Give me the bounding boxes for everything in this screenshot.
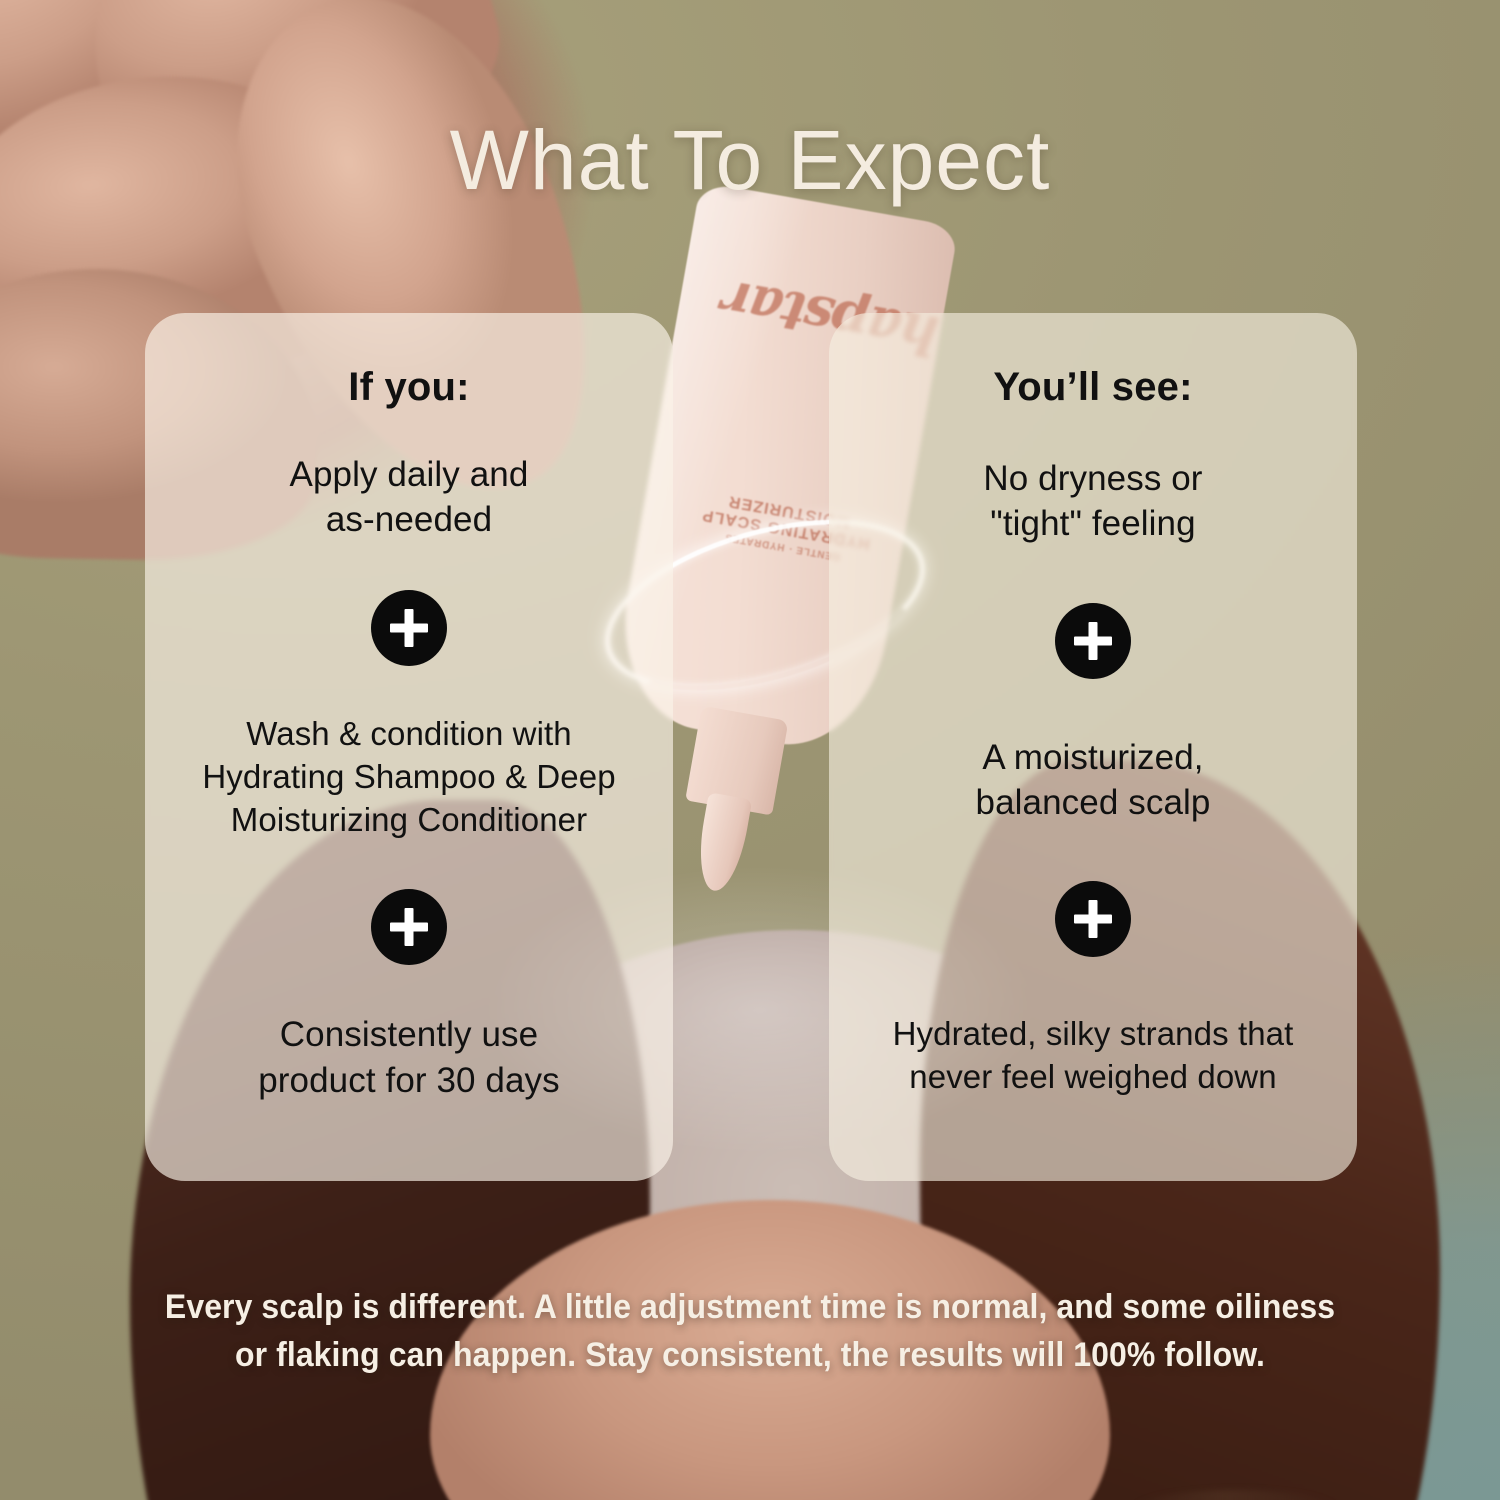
plus-icon — [1055, 881, 1131, 957]
step-consistent-30-days: Consistently useproduct for 30 days — [258, 1012, 560, 1103]
plus-icon — [371, 590, 447, 666]
plus-icon — [371, 889, 447, 965]
result-no-dryness: No dryness or"tight" feeling — [983, 456, 1202, 547]
card-heading-if-you: If you: — [348, 365, 469, 410]
card-heading-youll-see: You’ll see: — [993, 365, 1192, 410]
result-balanced-scalp: A moisturized,balanced scalp — [976, 735, 1211, 826]
card-body-if-you: Apply daily andas-needed Wash & conditio… — [179, 410, 639, 1133]
result-silky-strands: Hydrated, silky strands thatnever feel w… — [893, 1013, 1294, 1099]
card-if-you: If you: Apply daily andas-needed Wash & … — [145, 313, 673, 1181]
step-apply-daily: Apply daily andas-needed — [290, 452, 529, 543]
plus-icon — [1055, 603, 1131, 679]
infographic-canvas: hapstar GENTLE · HYDRATES HYDRATING SCAL… — [0, 0, 1500, 1500]
card-body-youll-see: No dryness or"tight" feeling A moisturiz… — [863, 410, 1323, 1133]
comparison-cards: If you: Apply daily andas-needed Wash & … — [145, 313, 1357, 1181]
footer-disclaimer: Every scalp is different. A little adjus… — [158, 1283, 1342, 1380]
card-youll-see: You’ll see: No dryness or"tight" feeling… — [829, 313, 1357, 1181]
page-title: What To Expect — [0, 118, 1500, 202]
step-wash-condition: Wash & condition withHydrating Shampoo &… — [202, 713, 615, 842]
